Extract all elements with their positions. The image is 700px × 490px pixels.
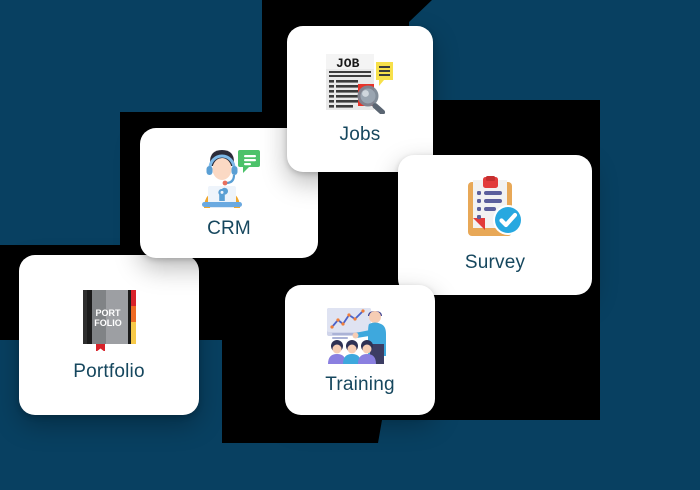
svg-text:JOB: JOB [336, 56, 360, 71]
portfolio-book-icon: PORT FOLIO [78, 287, 140, 351]
card-label-training: Training [325, 374, 395, 396]
card-label-crm: CRM [207, 218, 251, 240]
jobs-newspaper-icon: JOB [324, 52, 396, 114]
card-label-portfolio: Portfolio [73, 361, 145, 383]
app-canvas: PORT FOLIO Portfolio [0, 0, 700, 490]
svg-text:FOLIO: FOLIO [94, 318, 122, 328]
card-label-survey: Survey [465, 252, 525, 274]
training-presentation-icon [325, 304, 395, 364]
card-label-jobs: Jobs [340, 124, 381, 146]
card-portfolio[interactable]: PORT FOLIO Portfolio [19, 255, 199, 415]
card-survey[interactable]: Survey [398, 155, 592, 295]
crm-support-agent-icon [196, 146, 262, 208]
card-jobs[interactable]: JOB [287, 26, 433, 172]
card-training[interactable]: Training [285, 285, 435, 415]
svg-text:PORT: PORT [95, 308, 121, 318]
survey-clipboard-check-icon [462, 176, 528, 242]
